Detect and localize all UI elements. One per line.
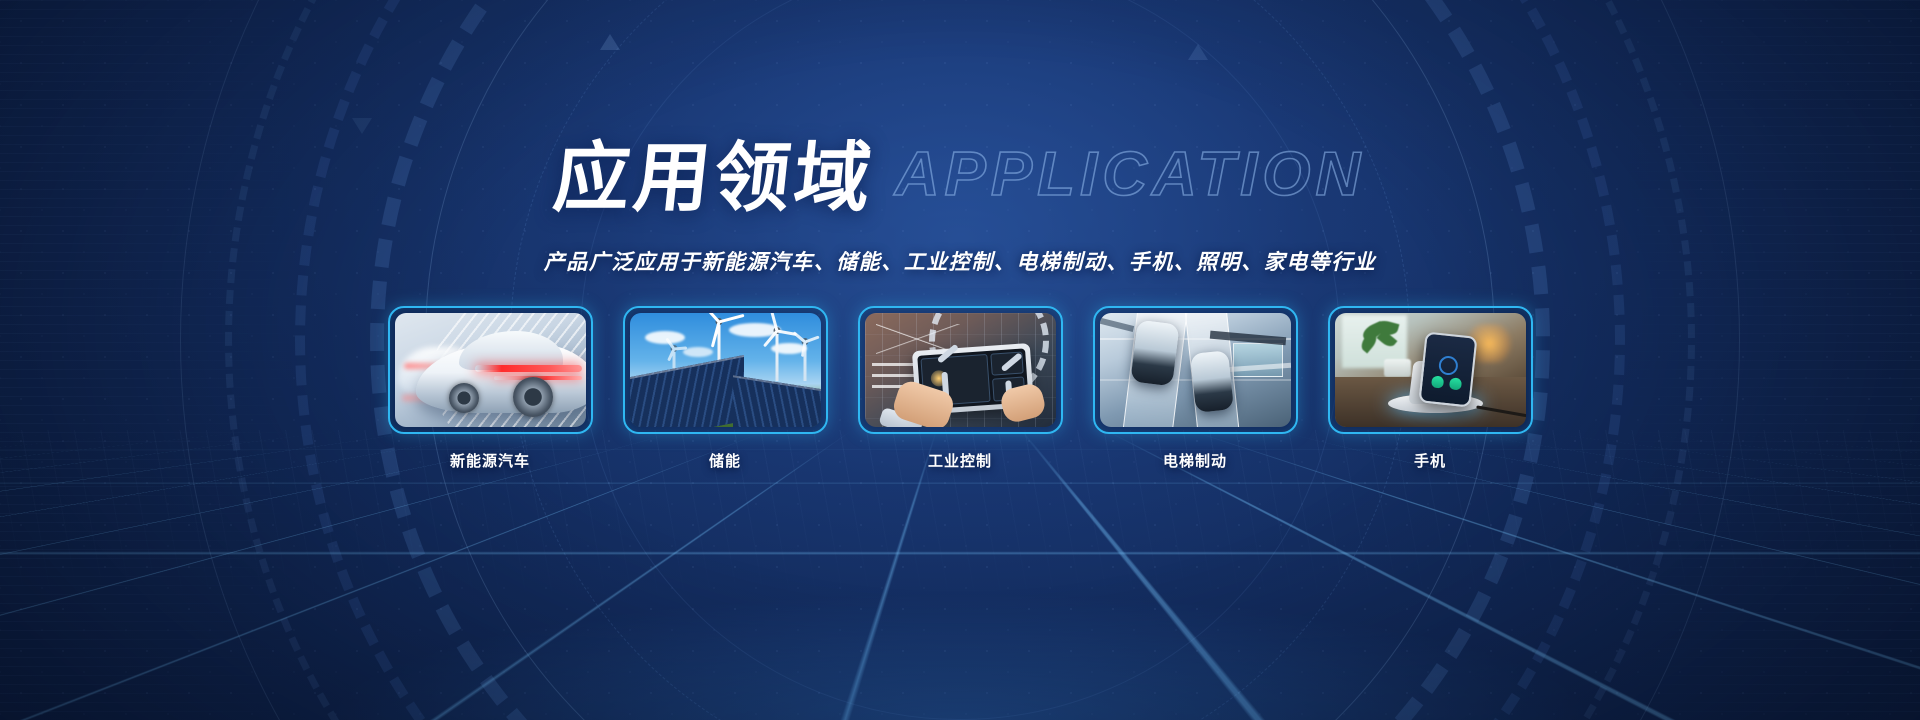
card-label: 新能源汽车 — [388, 450, 593, 471]
card-image-frame — [623, 306, 828, 434]
card-image-frame — [1328, 306, 1533, 434]
card-label: 电梯制动 — [1093, 450, 1298, 471]
elevator-image — [1100, 313, 1291, 427]
solar-wind-image — [630, 313, 821, 427]
application-card-list: 新能源汽车 — [0, 306, 1920, 471]
application-card[interactable]: 新能源汽车 — [388, 306, 593, 471]
smartphone-charger-image — [1335, 313, 1526, 427]
page-title-en: APPLICATION — [895, 139, 1366, 210]
industrial-control-image — [865, 313, 1056, 427]
page-title: 应用领域 — [549, 116, 881, 226]
card-image-frame — [388, 306, 593, 434]
card-image-frame — [1093, 306, 1298, 434]
application-card[interactable]: 电梯制动 — [1093, 306, 1298, 471]
banner-header: 应用领域 APPLICATION 产品广泛应用于新能源汽车、储能、工业控制、电梯… — [0, 116, 1920, 276]
page-subtitle: 产品广泛应用于新能源汽车、储能、工业控制、电梯制动、手机、照明、家电等行业 — [0, 246, 1920, 276]
card-label: 手机 — [1328, 450, 1533, 471]
application-card[interactable]: 工业控制 — [858, 306, 1063, 471]
card-image-frame — [858, 306, 1063, 434]
card-label: 工业控制 — [858, 450, 1063, 471]
application-banner: 应用领域 APPLICATION 产品广泛应用于新能源汽车、储能、工业控制、电梯… — [0, 0, 1920, 720]
ev-car-image — [395, 313, 586, 427]
card-label: 储能 — [623, 450, 828, 471]
application-card[interactable]: 手机 — [1328, 306, 1533, 471]
application-card[interactable]: 储能 — [623, 306, 828, 471]
